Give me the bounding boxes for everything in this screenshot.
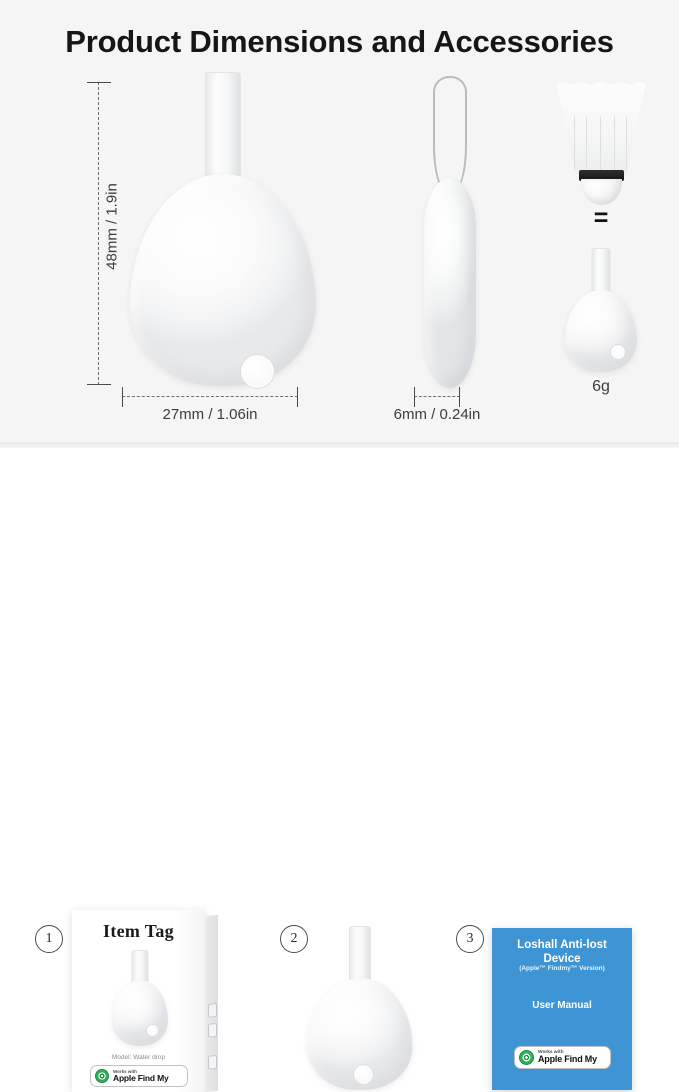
dimension-cap-left bbox=[122, 387, 123, 407]
tag-button bbox=[353, 1064, 374, 1085]
badge-text: Works with Apple Find My bbox=[113, 1070, 168, 1083]
manual-kind-label: User Manual bbox=[498, 1000, 626, 1011]
product-weight-view bbox=[566, 248, 636, 370]
weight-label: 6g bbox=[556, 378, 646, 396]
tag-button bbox=[610, 344, 626, 360]
box-spine-slot bbox=[208, 1003, 217, 1018]
box-title: Item Tag bbox=[72, 921, 205, 942]
retail-box: Item Tag Model: Water drop Works with Ap… bbox=[72, 910, 205, 1092]
box-spine-slot bbox=[208, 1055, 217, 1070]
shuttlecock-cork bbox=[581, 179, 622, 205]
product-side-view bbox=[395, 76, 505, 388]
shuttlecock-quill bbox=[614, 116, 615, 170]
tag-body bbox=[565, 290, 637, 372]
user-manual: Loshall Anti-lost Device (Apple™ Findmy™… bbox=[492, 928, 632, 1090]
shuttlecock-quill bbox=[574, 116, 575, 170]
dimension-cap-top bbox=[87, 82, 111, 83]
box-product-image bbox=[112, 950, 167, 1046]
accessory-number-2: 2 bbox=[280, 925, 308, 953]
product-infographic: Product Dimensions and Accessories 48mm … bbox=[0, 0, 679, 654]
dimension-cap-right bbox=[297, 387, 298, 407]
thickness-dimension-label: 6mm / 0.24in bbox=[394, 406, 481, 423]
dimension-shaft bbox=[414, 396, 460, 397]
shuttlecock-quill bbox=[626, 116, 627, 170]
width-dimension-label: 27mm / 1.06in bbox=[162, 406, 257, 423]
dimension-shaft bbox=[122, 396, 298, 397]
manual-title: Loshall Anti-lost Device bbox=[498, 939, 626, 967]
find-my-icon bbox=[95, 1069, 109, 1083]
dimension-cap-bottom bbox=[87, 384, 111, 385]
tag-body bbox=[130, 174, 316, 386]
height-dimension-line: 48mm / 1.9in bbox=[98, 82, 100, 385]
box-model-text: Model: Water drop bbox=[72, 1054, 205, 1061]
strap-loop bbox=[205, 72, 241, 185]
shuttlecock-feathers bbox=[556, 82, 646, 174]
strap-loop bbox=[433, 76, 467, 192]
badge-brand-label: Apple Find My bbox=[538, 1055, 597, 1064]
equals-symbol: = bbox=[556, 206, 646, 231]
dimension-cap-right bbox=[459, 387, 460, 407]
accessory-number-1: 1 bbox=[35, 925, 63, 953]
works-with-apple-find-my-badge: Works with Apple Find My bbox=[514, 1046, 611, 1069]
dimension-shaft bbox=[98, 82, 99, 385]
accessory-item-tag bbox=[305, 926, 415, 1091]
works-with-apple-find-my-badge: Works with Apple Find My bbox=[90, 1065, 188, 1087]
dimension-cap-left bbox=[414, 387, 415, 407]
badge-text: Works with Apple Find My bbox=[538, 1051, 597, 1065]
tag-button bbox=[240, 354, 275, 389]
tag-body-profile bbox=[424, 178, 476, 388]
box-spine-slot bbox=[208, 1023, 217, 1038]
product-front-view bbox=[128, 72, 318, 388]
shuttlecock-quill bbox=[586, 116, 587, 170]
badge-brand-label: Apple Find My bbox=[113, 1074, 168, 1083]
accessory-number-3: 3 bbox=[456, 925, 484, 953]
accessories-panel: 1 Item Tag Model: Water drop Works with … bbox=[0, 448, 679, 654]
box-spine bbox=[205, 915, 218, 1092]
height-dimension-label: 48mm / 1.9in bbox=[104, 167, 121, 287]
manual-subtitle: (Apple™ Findmy™ Version) bbox=[498, 965, 626, 972]
thickness-dimension-line: 6mm / 0.24in bbox=[414, 396, 460, 398]
page-title: Product Dimensions and Accessories bbox=[0, 24, 679, 60]
shuttlecock-quill bbox=[600, 116, 601, 170]
tag-button bbox=[146, 1024, 159, 1037]
tag-body bbox=[112, 980, 168, 1046]
shuttlecock-icon bbox=[556, 82, 646, 200]
dimensions-panel: Product Dimensions and Accessories 48mm … bbox=[0, 0, 679, 448]
find-my-icon bbox=[519, 1050, 534, 1065]
width-dimension-line: 27mm / 1.06in bbox=[122, 396, 298, 398]
